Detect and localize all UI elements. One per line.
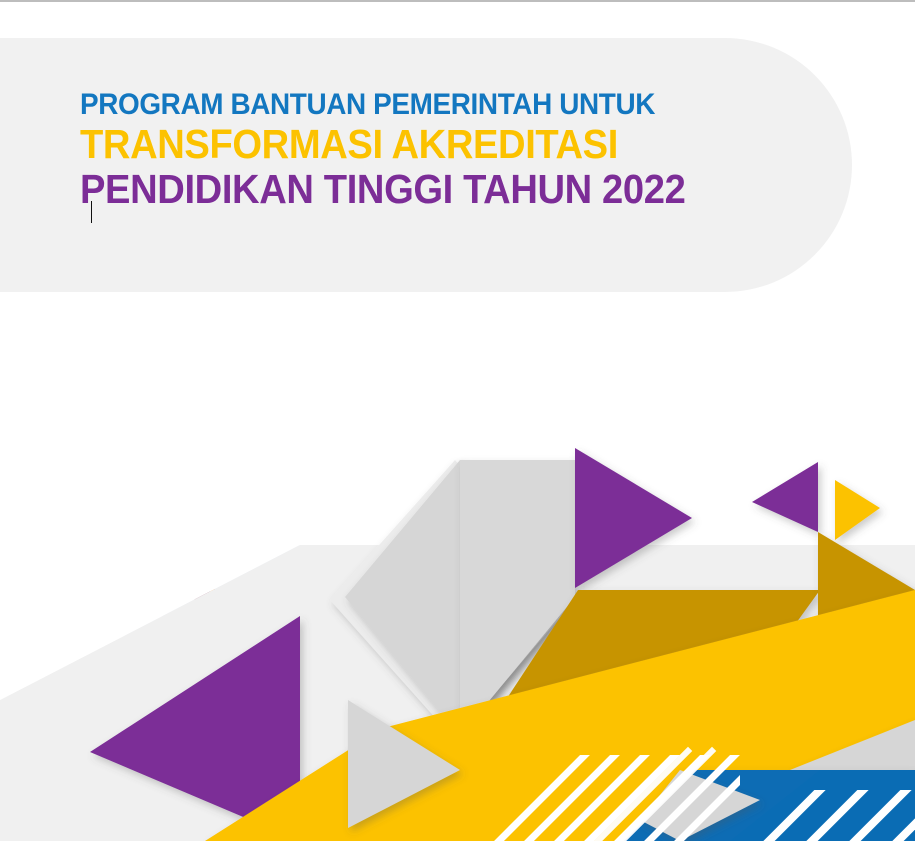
- title-block: PROGRAM BANTUAN PEMERINTAH UNTUK TRANSFO…: [80, 88, 840, 212]
- title-line-2: TRANSFORMASI AKREDITASI: [80, 122, 787, 167]
- window-top-rule: [0, 0, 915, 2]
- title-line-3: PENDIDIKAN TINGGI TAHUN 2022: [80, 167, 787, 212]
- title-line-1: PROGRAM BANTUAN PEMERINTAH UNTUK: [80, 88, 787, 122]
- text-cursor-caret[interactable]: [91, 201, 92, 223]
- slide-canvas: PROGRAM BANTUAN PEMERINTAH UNTUK TRANSFO…: [0, 0, 915, 841]
- geometric-collage: [0, 300, 915, 841]
